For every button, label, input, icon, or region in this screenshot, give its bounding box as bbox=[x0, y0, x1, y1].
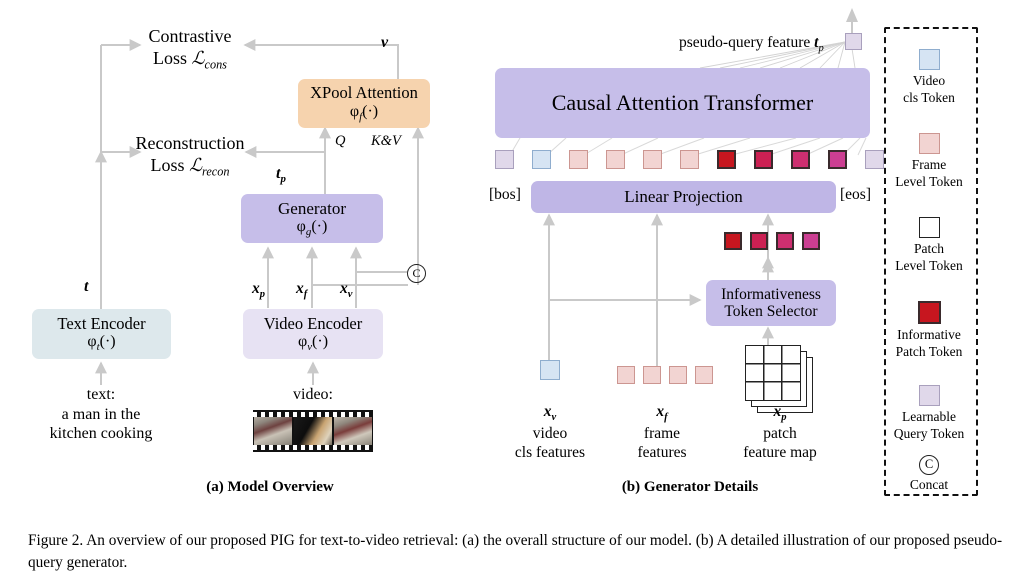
frame-level-token bbox=[669, 366, 687, 384]
filmstrip-perforation-top bbox=[253, 412, 373, 417]
figure-caption: Figure 2. An overview of our proposed PI… bbox=[28, 530, 1003, 574]
sequence-token-frame-level bbox=[680, 150, 699, 169]
legend-label-line2: Query Token bbox=[874, 426, 984, 443]
legend-label-line2: Level Token bbox=[874, 258, 984, 275]
label-Q: Q bbox=[335, 133, 345, 150]
video-cls-token bbox=[540, 360, 560, 380]
generator-title: Generator bbox=[278, 199, 346, 218]
reconstruction-loss-line2: Loss ℒrecon bbox=[110, 155, 270, 180]
sequence-token-informative-patch bbox=[791, 150, 810, 169]
legend-swatch bbox=[918, 301, 941, 324]
label-kv: K&V bbox=[371, 133, 401, 150]
reconstruction-loss-line1: Reconstruction bbox=[110, 133, 270, 155]
sequence-token-informative-patch bbox=[754, 150, 773, 169]
xpool-attention-box[interactable]: XPool Attention φf(·) bbox=[298, 79, 430, 128]
legend-label-line1: Video bbox=[874, 73, 984, 90]
linear-projection-title: Linear Projection bbox=[624, 187, 743, 206]
video-filmstrip bbox=[253, 410, 373, 452]
legend-label-line1: Concat bbox=[874, 477, 984, 494]
informativeness-token-selector-box[interactable]: Informativeness Token Selector bbox=[706, 280, 836, 326]
video-encoder-box[interactable]: Video Encoder φv(·) bbox=[243, 309, 383, 359]
video-input-label: video: bbox=[253, 385, 373, 405]
informative-token-row bbox=[724, 232, 824, 252]
text-input-label: text: bbox=[20, 385, 182, 405]
text-input-line1: a man in the bbox=[20, 405, 182, 425]
generator-formula: φg(·) bbox=[297, 218, 328, 238]
sequence-token-frame-level bbox=[569, 150, 588, 169]
legend-item-informative: InformativePatch Token bbox=[874, 301, 984, 361]
filmstrip-frame bbox=[334, 416, 372, 446]
legend-label-line2: cls Token bbox=[874, 90, 984, 107]
xp-caption: xp patch feature map bbox=[717, 403, 843, 463]
xf-desc-line1: frame bbox=[607, 425, 717, 444]
token-sequence-row bbox=[495, 150, 873, 170]
contrastive-loss-line1: Contrastive bbox=[120, 26, 260, 48]
xp-symbol: xp bbox=[717, 403, 843, 425]
informative-patch-token bbox=[802, 232, 820, 250]
concat-icon: C bbox=[407, 264, 426, 283]
legend-swatch bbox=[919, 385, 940, 406]
concat-icon: C bbox=[919, 455, 939, 475]
video-encoder-formula: φv(·) bbox=[298, 333, 328, 353]
panel-a-title: (a) Model Overview bbox=[120, 478, 420, 496]
bos-label: [bos] bbox=[489, 186, 521, 204]
reconstruction-loss-label: Reconstruction Loss ℒrecon bbox=[110, 133, 270, 179]
informative-patch-token bbox=[724, 232, 742, 250]
legend-items: Videocls TokenFrameLevel TokenPatchLevel… bbox=[884, 27, 974, 492]
legend-item-frame: FrameLevel Token bbox=[874, 133, 984, 191]
legend-label-line1: Frame bbox=[874, 157, 984, 174]
xv-symbol: xv bbox=[495, 403, 605, 425]
transformer-title: Causal Attention Transformer bbox=[552, 91, 814, 116]
legend-item-patch: PatchLevel Token bbox=[874, 217, 984, 275]
legend-label-line1: Informative bbox=[874, 327, 984, 344]
frame-token-row bbox=[617, 366, 707, 386]
pseudo-query-feature-label: pseudo-query feature tp bbox=[679, 34, 824, 54]
xf-symbol: xf bbox=[607, 403, 717, 425]
informative-patch-token bbox=[750, 232, 768, 250]
label-xp: xp bbox=[252, 280, 265, 300]
legend-label-line1: Patch bbox=[874, 241, 984, 258]
legend-item-learnable: LearnableQuery Token bbox=[874, 385, 984, 443]
legend-label-line2: Level Token bbox=[874, 174, 984, 191]
patch-grid-front-layer bbox=[745, 345, 801, 401]
text-input-caption: text: a man in the kitchen cooking bbox=[20, 385, 182, 444]
generator-box[interactable]: Generator φg(·) bbox=[241, 194, 383, 243]
text-encoder-box[interactable]: Text Encoder φt(·) bbox=[32, 309, 171, 359]
xf-desc-line2: features bbox=[607, 444, 717, 463]
xf-caption: xf frame features bbox=[607, 403, 717, 463]
sequence-token-learnable-query bbox=[495, 150, 514, 169]
xp-desc-line1: patch bbox=[717, 425, 843, 444]
sequence-token-frame-level bbox=[606, 150, 625, 169]
filmstrip-frame bbox=[254, 416, 292, 446]
filmstrip-frame bbox=[294, 416, 332, 446]
video-encoder-title: Video Encoder bbox=[264, 315, 362, 333]
sequence-token-video-cls bbox=[532, 150, 551, 169]
label-v: v bbox=[381, 34, 388, 52]
label-xv: xv bbox=[340, 280, 352, 300]
label-tp: tp bbox=[276, 165, 286, 185]
label-xf: xf bbox=[296, 280, 307, 300]
label-t: t bbox=[84, 278, 88, 296]
figure-canvas: Contrastive Loss ℒcons Reconstruction Lo… bbox=[0, 0, 1024, 585]
xpool-attention-title: XPool Attention bbox=[310, 84, 418, 102]
sequence-token-informative-patch bbox=[717, 150, 736, 169]
eos-label: [eos] bbox=[840, 186, 871, 204]
pseudo-query-token bbox=[845, 33, 862, 50]
selector-line2: Token Selector bbox=[724, 303, 817, 320]
text-encoder-formula: φt(·) bbox=[87, 333, 115, 353]
frame-level-token bbox=[643, 366, 661, 384]
contrastive-loss-label: Contrastive Loss ℒcons bbox=[120, 26, 260, 72]
legend-label-line1: Learnable bbox=[874, 409, 984, 426]
causal-attention-transformer-box[interactable]: Causal Attention Transformer bbox=[495, 68, 870, 138]
legend-item-video: Videocls Token bbox=[874, 49, 984, 107]
linear-projection-box[interactable]: Linear Projection bbox=[531, 181, 836, 213]
xv-desc-line2: cls features bbox=[495, 444, 605, 463]
text-input-line2: kitchen cooking bbox=[20, 424, 182, 444]
selector-line1: Informativeness bbox=[721, 286, 821, 303]
sequence-token-frame-level bbox=[643, 150, 662, 169]
panel-b-title: (b) Generator Details bbox=[540, 478, 840, 496]
xpool-attention-formula: φf(·) bbox=[350, 103, 378, 123]
legend-swatch bbox=[919, 133, 940, 154]
legend-swatch bbox=[919, 217, 940, 238]
text-encoder-title: Text Encoder bbox=[57, 315, 145, 333]
legend-label-line2: Patch Token bbox=[874, 344, 984, 361]
legend-swatch bbox=[919, 49, 940, 70]
filmstrip-perforation-bottom bbox=[253, 445, 373, 450]
xp-desc-line2: feature map bbox=[717, 444, 843, 463]
xv-desc-line1: video bbox=[495, 425, 605, 444]
xv-caption: xv video cls features bbox=[495, 403, 605, 463]
frame-level-token bbox=[617, 366, 635, 384]
legend-item-concat: CConcat bbox=[874, 455, 984, 494]
frame-level-token bbox=[695, 366, 713, 384]
informative-patch-token bbox=[776, 232, 794, 250]
sequence-token-informative-patch bbox=[828, 150, 847, 169]
contrastive-loss-line2: Loss ℒcons bbox=[120, 48, 260, 73]
